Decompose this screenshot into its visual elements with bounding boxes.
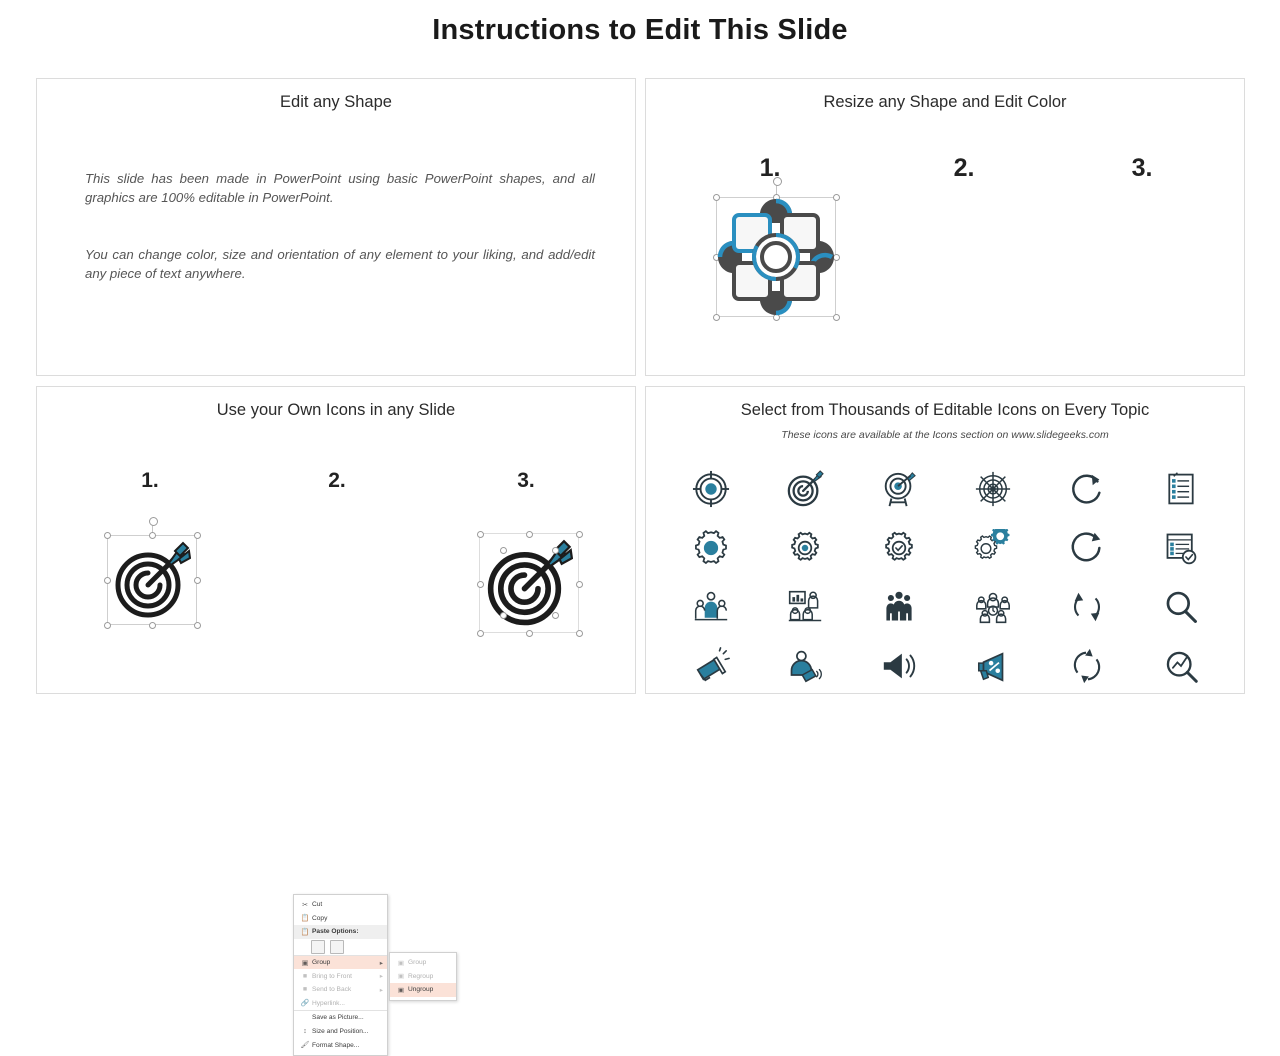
edit-shape-paragraph-1: This slide has been made in PowerPoint u… bbox=[85, 169, 595, 207]
part-handle-w[interactable] bbox=[477, 581, 484, 588]
part-handle-inner-2[interactable] bbox=[552, 547, 559, 554]
dartboard-arrow-grouped[interactable] bbox=[113, 541, 191, 619]
resize-step-number-1: 1. bbox=[740, 154, 800, 183]
group-people-icon[interactable] bbox=[852, 577, 946, 636]
icons-step-number-3: 3. bbox=[496, 469, 556, 493]
resize-handle-n[interactable] bbox=[149, 532, 156, 539]
panel-editable-icons: Select from Thousands of Editable Icons … bbox=[645, 386, 1245, 694]
menu-item-size-and-position[interactable]: ↕ Size and Position... bbox=[294, 1025, 387, 1039]
resize-step-number-2: 2. bbox=[934, 154, 994, 183]
part-handle-inner-3[interactable] bbox=[500, 612, 507, 619]
scissors-icon: ✂ bbox=[298, 899, 312, 910]
menu-item-label: Cut bbox=[312, 901, 383, 908]
part-handle-sw[interactable] bbox=[477, 630, 484, 637]
gear-filled-icon[interactable] bbox=[664, 518, 758, 577]
part-handle-e[interactable] bbox=[576, 581, 583, 588]
slide-canvas: Instructions to Edit This Slide Edit any… bbox=[0, 0, 1280, 720]
leader-team-icon[interactable] bbox=[664, 577, 758, 636]
menu-item-copy[interactable]: 📋 Copy bbox=[294, 912, 387, 926]
icon-gallery-grid bbox=[664, 459, 1228, 695]
resize-handle-ne[interactable] bbox=[194, 532, 201, 539]
submenu-item-label: Regroup bbox=[408, 973, 452, 980]
menu-item-hyperlink[interactable]: 🔗 Hyperlink... bbox=[294, 997, 387, 1011]
blank-icon bbox=[298, 1012, 312, 1023]
part-handle-n[interactable] bbox=[526, 531, 533, 538]
page-title: Instructions to Edit This Slide bbox=[0, 14, 1280, 47]
group-icon: ▣ bbox=[394, 957, 408, 968]
presentation-team-icon[interactable] bbox=[758, 577, 852, 636]
size-position-icon: ↕ bbox=[298, 1026, 312, 1037]
resize-handle-nw[interactable] bbox=[104, 532, 111, 539]
redo-arrow-icon[interactable] bbox=[1040, 459, 1134, 518]
panel-edit-any-shape: Edit any Shape This slide has been made … bbox=[36, 78, 636, 376]
group-icon: ▣ bbox=[298, 957, 312, 968]
menu-item-label: Group bbox=[312, 959, 380, 966]
chevron-right-icon: ▸ bbox=[380, 986, 383, 994]
icons-step-number-1: 1. bbox=[120, 469, 180, 493]
menu-item-bring-to-front[interactable]: ■ Bring to Front ▸ bbox=[294, 969, 387, 983]
chevron-right-icon: ▸ bbox=[380, 972, 383, 980]
menu-item-save-as-picture[interactable]: Save as Picture... bbox=[294, 1011, 387, 1025]
resize-handle-sw[interactable] bbox=[104, 622, 111, 629]
paste-keep-formatting-icon[interactable] bbox=[311, 940, 325, 954]
panel-subheading-icons-source: These icons are available at the Icons s… bbox=[646, 429, 1244, 441]
menu-item-label: Size and Position... bbox=[312, 1028, 383, 1035]
hyperlink-icon: 🔗 bbox=[298, 998, 312, 1009]
part-handle-ne[interactable] bbox=[576, 531, 583, 538]
panel-resize-shape-edit-color: Resize any Shape and Edit Color 1. 2. 3. bbox=[645, 78, 1245, 376]
menu-item-send-to-back[interactable]: ■ Send to Back ▸ bbox=[294, 983, 387, 997]
paste-picture-icon[interactable] bbox=[330, 940, 344, 954]
resize-handle-se[interactable] bbox=[194, 622, 201, 629]
panel-use-own-icons: Use your Own Icons in any Slide 1. 2. 3. bbox=[36, 386, 636, 694]
submenu-item-group[interactable]: ▣ Group bbox=[390, 956, 456, 970]
menu-item-label: Send to Back bbox=[312, 986, 380, 993]
megaphone-icon[interactable] bbox=[664, 636, 758, 695]
crosshair-target-icon[interactable] bbox=[664, 459, 758, 518]
submenu-group-options[interactable]: ▣ Group ▣ Regroup ▣ Ungroup bbox=[389, 952, 457, 1001]
edit-shape-paragraph-2: You can change color, size and orientati… bbox=[85, 245, 595, 283]
magnifier-icon[interactable] bbox=[1134, 577, 1228, 636]
context-menu-group[interactable]: ✂ Cut 📋 Copy 📋 Paste Options: ▣ Group ▸ bbox=[293, 894, 388, 1056]
rotate-handle[interactable] bbox=[149, 517, 158, 526]
panel-heading-resize-shape: Resize any Shape and Edit Color bbox=[646, 93, 1244, 112]
radar-target-icon[interactable] bbox=[946, 459, 1040, 518]
resize-handle-s[interactable] bbox=[149, 622, 156, 629]
speaker-icon[interactable] bbox=[852, 636, 946, 695]
megaphone-percent-icon[interactable] bbox=[946, 636, 1040, 695]
part-handle-se[interactable] bbox=[576, 630, 583, 637]
panel-heading-own-icons: Use your Own Icons in any Slide bbox=[37, 401, 635, 420]
refresh-arrow-icon[interactable] bbox=[1040, 518, 1134, 577]
menu-item-label: Save as Picture... bbox=[312, 1014, 383, 1021]
paste-options-row[interactable] bbox=[294, 939, 387, 955]
resize-handle-w[interactable] bbox=[104, 577, 111, 584]
menu-item-format-shape[interactable]: 🖌 Format Shape... bbox=[294, 1038, 387, 1052]
cycle-arrows-icon[interactable] bbox=[1040, 577, 1134, 636]
submenu-item-regroup[interactable]: ▣ Regroup bbox=[390, 970, 456, 984]
part-handle-nw[interactable] bbox=[477, 531, 484, 538]
paste-icon: 📋 bbox=[298, 926, 312, 937]
menu-item-group[interactable]: ▣ Group ▸ bbox=[294, 956, 387, 970]
regroup-icon: ▣ bbox=[394, 971, 408, 982]
submenu-item-label: Ungroup bbox=[408, 986, 452, 993]
menu-item-label: Bring to Front bbox=[312, 973, 380, 980]
dartboard-arrow-ungrouped[interactable] bbox=[485, 539, 573, 627]
submenu-item-ungroup[interactable]: ▣ Ungroup bbox=[390, 983, 456, 997]
menu-item-label: Copy bbox=[312, 915, 383, 922]
target-stand-icon[interactable] bbox=[852, 459, 946, 518]
send-back-icon: ■ bbox=[298, 984, 312, 995]
rotate-handle[interactable] bbox=[773, 177, 782, 186]
resize-step-number-3: 3. bbox=[1112, 154, 1172, 183]
meeting-team-icon[interactable] bbox=[946, 577, 1040, 636]
icons-step-number-2: 2. bbox=[307, 469, 367, 493]
person-announce-icon[interactable] bbox=[758, 636, 852, 695]
dual-gears-icon[interactable] bbox=[946, 518, 1040, 577]
gear-dot-icon[interactable] bbox=[758, 518, 852, 577]
menu-item-paste-options: 📋 Paste Options: bbox=[294, 925, 387, 939]
resize-handle-e[interactable] bbox=[194, 577, 201, 584]
checklist-approved-icon[interactable] bbox=[1134, 518, 1228, 577]
submenu-item-label: Group bbox=[408, 959, 452, 966]
chevron-right-icon: ▸ bbox=[380, 959, 383, 967]
part-handle-inner-1[interactable] bbox=[500, 547, 507, 554]
menu-item-label: Paste Options: bbox=[312, 928, 383, 935]
dartboard-arrow-icon[interactable] bbox=[758, 459, 852, 518]
gear-check-icon[interactable] bbox=[852, 518, 946, 577]
panel-heading-editable-icons: Select from Thousands of Editable Icons … bbox=[646, 401, 1244, 420]
resize-demo-shape[interactable] bbox=[716, 197, 836, 317]
ungroup-icon: ▣ bbox=[394, 984, 408, 995]
magnifier-chart-icon[interactable] bbox=[1134, 636, 1228, 695]
menu-item-label: Hyperlink... bbox=[312, 1000, 383, 1007]
menu-item-cut[interactable]: ✂ Cut bbox=[294, 898, 387, 912]
copy-icon: 📋 bbox=[298, 913, 312, 924]
part-handle-s[interactable] bbox=[526, 630, 533, 637]
checklist-document-icon[interactable] bbox=[1134, 459, 1228, 518]
menu-item-label: Format Shape... bbox=[312, 1042, 383, 1049]
format-shape-icon: 🖌 bbox=[298, 1040, 312, 1051]
part-handle-inner-4[interactable] bbox=[552, 612, 559, 619]
panel-heading-edit-shape: Edit any Shape bbox=[37, 93, 635, 112]
refresh-cycle-icon[interactable] bbox=[1040, 636, 1134, 695]
bring-front-icon: ■ bbox=[298, 971, 312, 982]
